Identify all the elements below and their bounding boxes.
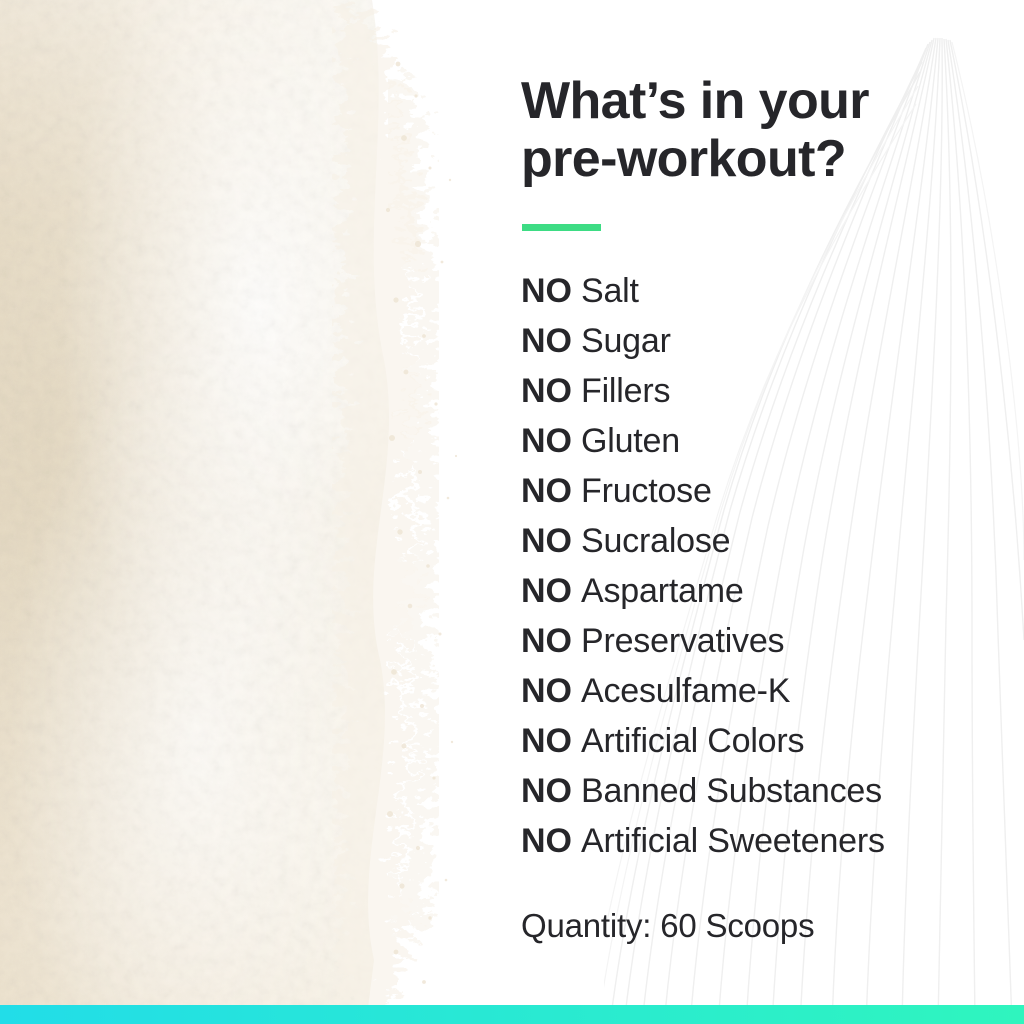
- no-label: NO: [521, 322, 572, 360]
- quantity-text: Quantity: 60 Scoops: [521, 904, 814, 948]
- list-item: NOArtificial Sweeteners: [521, 816, 885, 866]
- no-label: NO: [521, 522, 572, 560]
- no-label: NO: [521, 672, 572, 710]
- no-label: NO: [521, 472, 572, 510]
- ingredient-name: Preservatives: [581, 622, 784, 660]
- info-panel: What’s in your pre-workout? NOSalt NOSug…: [521, 0, 1024, 1024]
- no-label: NO: [521, 422, 572, 460]
- ingredient-name: Artificial Sweeteners: [581, 822, 885, 860]
- no-label: NO: [521, 372, 572, 410]
- page-title-line-1: What’s in your: [521, 72, 991, 130]
- ingredient-name: Artificial Colors: [581, 722, 804, 760]
- list-item: NOPreservatives: [521, 616, 885, 666]
- no-label: NO: [521, 622, 572, 660]
- list-item: NOAcesulfame-K: [521, 666, 885, 716]
- excluded-ingredients-list: NOSalt NOSugar NOFillers NOGluten NOFruc…: [521, 266, 885, 866]
- bottom-gradient-bar: [0, 1005, 1024, 1024]
- list-item: NOFillers: [521, 366, 885, 416]
- product-info-card: What’s in your pre-workout? NOSalt NOSug…: [0, 0, 1024, 1024]
- page-title: What’s in your pre-workout?: [521, 72, 991, 188]
- powder-product-image: [0, 0, 470, 1024]
- page-title-line-2: pre-workout?: [521, 130, 991, 188]
- ingredient-name: Banned Substances: [581, 772, 882, 810]
- list-item: NOGluten: [521, 416, 885, 466]
- no-label: NO: [521, 822, 572, 860]
- list-item: NOSugar: [521, 316, 885, 366]
- ingredient-name: Aspartame: [581, 572, 744, 610]
- no-label: NO: [521, 572, 572, 610]
- ingredient-name: Gluten: [581, 422, 680, 460]
- list-item: NOAspartame: [521, 566, 885, 616]
- no-label: NO: [521, 772, 572, 810]
- no-label: NO: [521, 722, 572, 760]
- ingredient-name: Salt: [581, 272, 639, 310]
- list-item: NOSalt: [521, 266, 885, 316]
- list-item: NOSucralose: [521, 516, 885, 566]
- list-item: NOArtificial Colors: [521, 716, 885, 766]
- ingredient-name: Fillers: [581, 372, 670, 410]
- accent-underline: [522, 224, 601, 231]
- ingredient-name: Sugar: [581, 322, 671, 360]
- ingredient-name: Sucralose: [581, 522, 730, 560]
- list-item: NOBanned Substances: [521, 766, 885, 816]
- list-item: NOFructose: [521, 466, 885, 516]
- ingredient-name: Acesulfame-K: [581, 672, 790, 710]
- no-label: NO: [521, 272, 572, 310]
- ingredient-name: Fructose: [581, 472, 712, 510]
